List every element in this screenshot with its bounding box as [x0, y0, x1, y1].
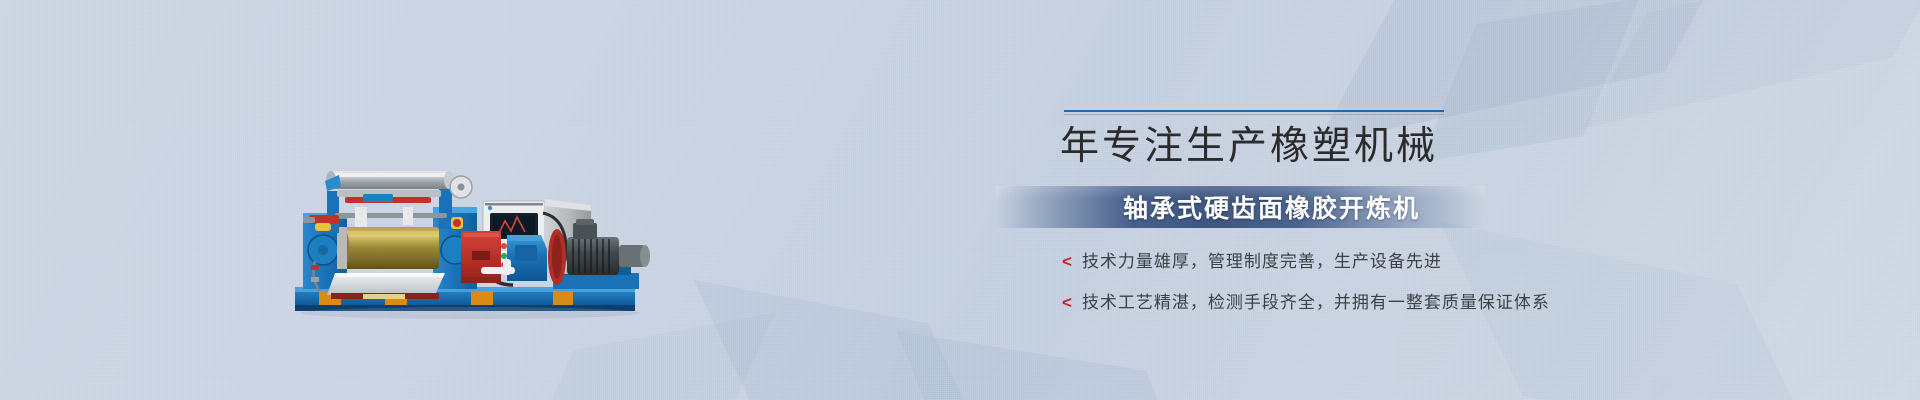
product-title-ribbon: 轴承式硬齿面橡胶开炼机: [995, 186, 1485, 228]
decorative-polygon-4: [694, 280, 997, 400]
feature-list: < 技术力量雄厚，管理制度完善，生产设备先进 < 技术工艺精湛，检测手段齐全，并…: [1062, 247, 1890, 313]
divider-line-primary: [1064, 110, 1444, 112]
feature-text: 技术力量雄厚，管理制度完善，生产设备先进: [1082, 247, 1442, 272]
list-item: < 技术工艺精湛，检测手段齐全，并拥有一整套质量保证体系: [1062, 288, 1890, 313]
divider-line-secondary: [1064, 114, 1444, 115]
list-item: < 技术力量雄厚，管理制度完善，生产设备先进: [1062, 247, 1890, 272]
hero-headline: 年专注生产橡塑机械: [1060, 125, 1890, 169]
decorative-polygon-6: [524, 312, 775, 400]
headline-divider: [1064, 110, 1444, 115]
hero-text-block: 年专注生产橡塑机械 轴承式硬齿面橡胶开炼机 < 技术力量雄厚，管理制度完善，生产…: [1060, 110, 1890, 329]
decorative-polygon-5: [897, 331, 1194, 400]
chevron-left-icon: <: [1062, 253, 1072, 270]
feature-text: 技术工艺精湛，检测手段齐全，并拥有一整套质量保证体系: [1082, 288, 1550, 313]
hero-banner: 年专注生产橡塑机械 轴承式硬齿面橡胶开炼机 < 技术力量雄厚，管理制度完善，生产…: [0, 0, 1920, 400]
product-title: 轴承式硬齿面橡胶开炼机: [1123, 189, 1420, 225]
chevron-left-icon: <: [1062, 294, 1072, 311]
product-image: [285, 95, 705, 325]
